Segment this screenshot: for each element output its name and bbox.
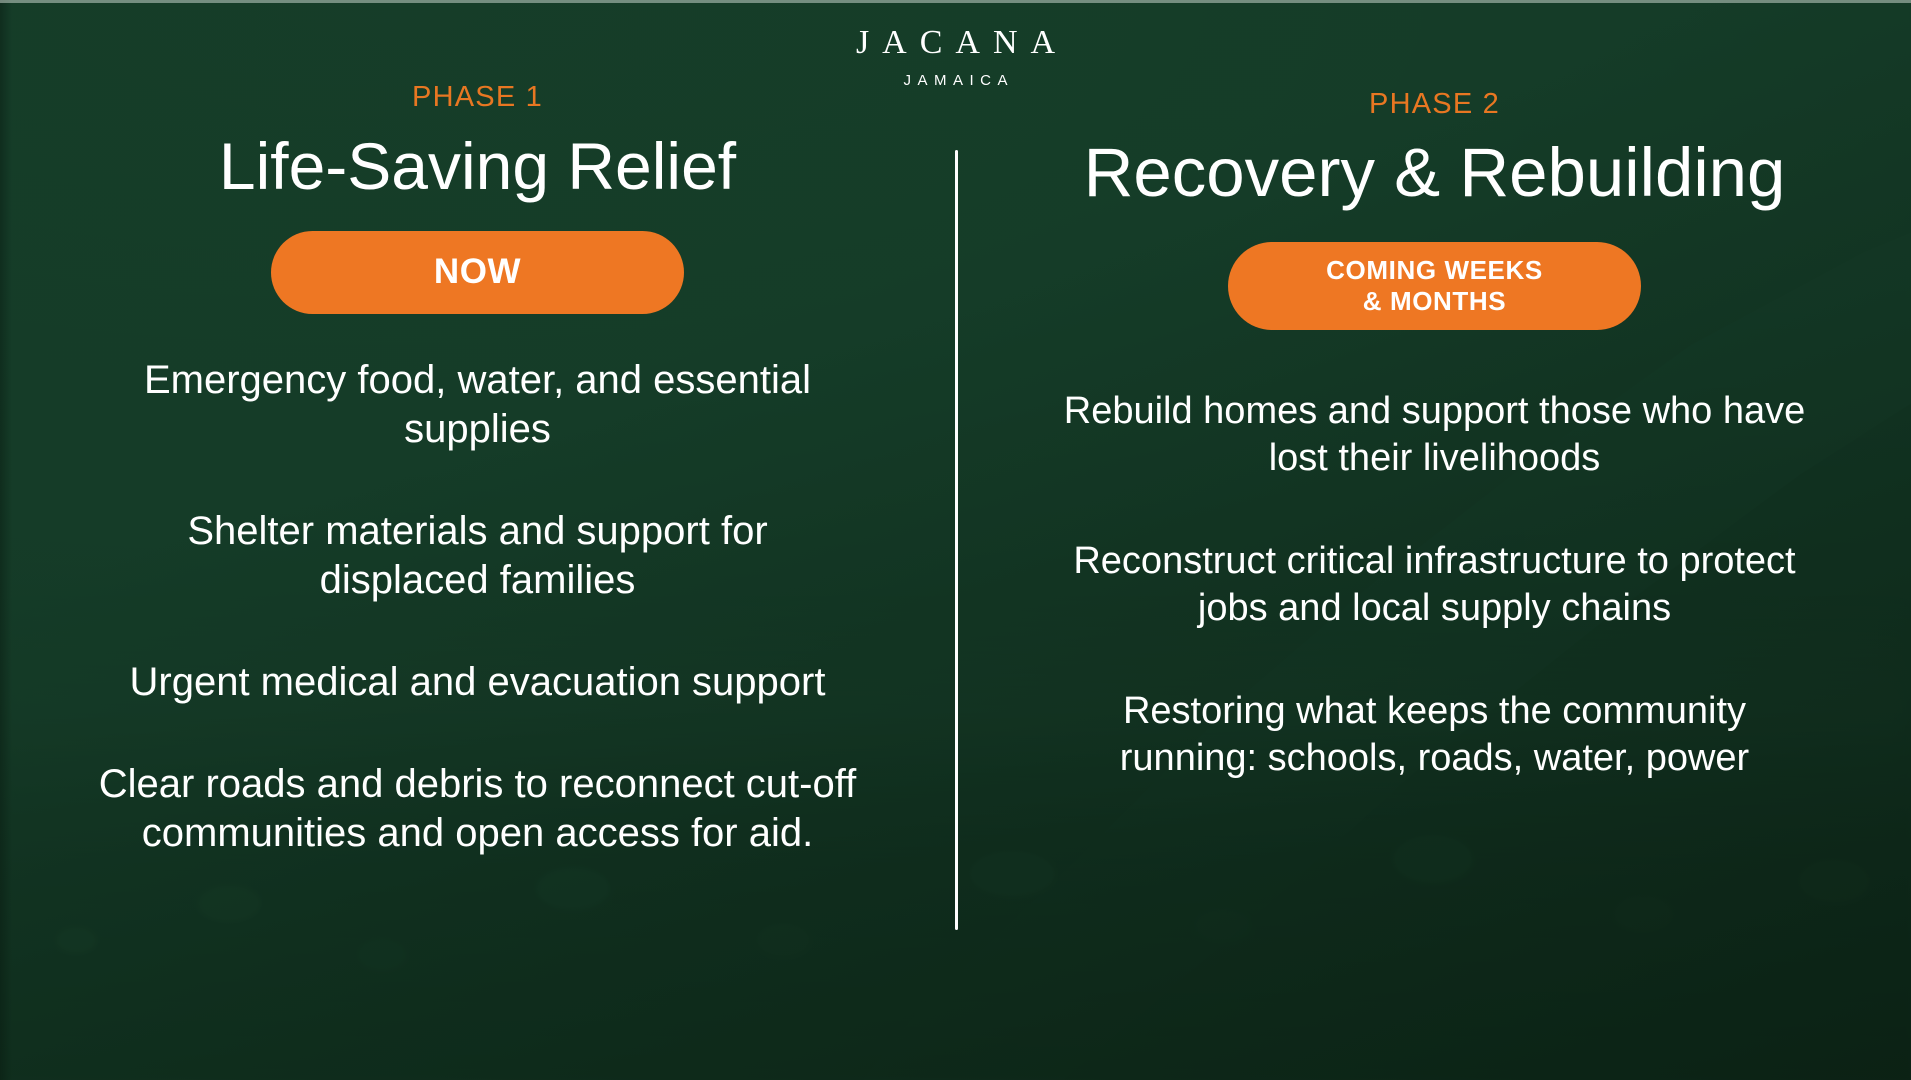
phase-1-item: Clear roads and debris to reconnect cut-… xyxy=(98,760,858,859)
phase-1-item: Urgent medical and evacuation support xyxy=(98,658,858,708)
phase-1-title: Life-Saving Relief xyxy=(219,132,736,201)
phase-2-item-list: Rebuild homes and support those who have… xyxy=(958,388,1911,783)
phase-1-item: Emergency food, water, and essential sup… xyxy=(98,356,858,455)
phase-2-label: PHASE 2 xyxy=(1369,90,1500,119)
slide-content: JACANA JAMAICA PHASE 1 Life-Saving Relie… xyxy=(0,0,1911,1080)
phase-2-column: PHASE 2 Recovery & Rebuilding COMING WEE… xyxy=(958,0,1911,1080)
phase-2-item: Reconstruct critical infrastructure to p… xyxy=(1055,538,1815,632)
phase-2-title: Recovery & Rebuilding xyxy=(1084,137,1786,209)
phase-1-item-list: Emergency food, water, and essential sup… xyxy=(0,356,955,859)
phase-2-item: Rebuild homes and support those who have… xyxy=(1055,388,1815,482)
phase-1-timing-badge: NOW xyxy=(271,231,684,314)
column-divider xyxy=(955,150,958,930)
phase-1-column: PHASE 1 Life-Saving Relief NOW Emergency… xyxy=(0,0,955,1080)
phase-1-item: Shelter materials and support for displa… xyxy=(98,507,858,606)
phase-2-item: Restoring what keeps the community runni… xyxy=(1055,688,1815,782)
slide-root: JACANA JAMAICA PHASE 1 Life-Saving Relie… xyxy=(0,0,1911,1080)
phase-2-timing-badge: COMING WEEKS & MONTHS xyxy=(1228,242,1641,330)
phase-1-label: PHASE 1 xyxy=(412,83,543,112)
